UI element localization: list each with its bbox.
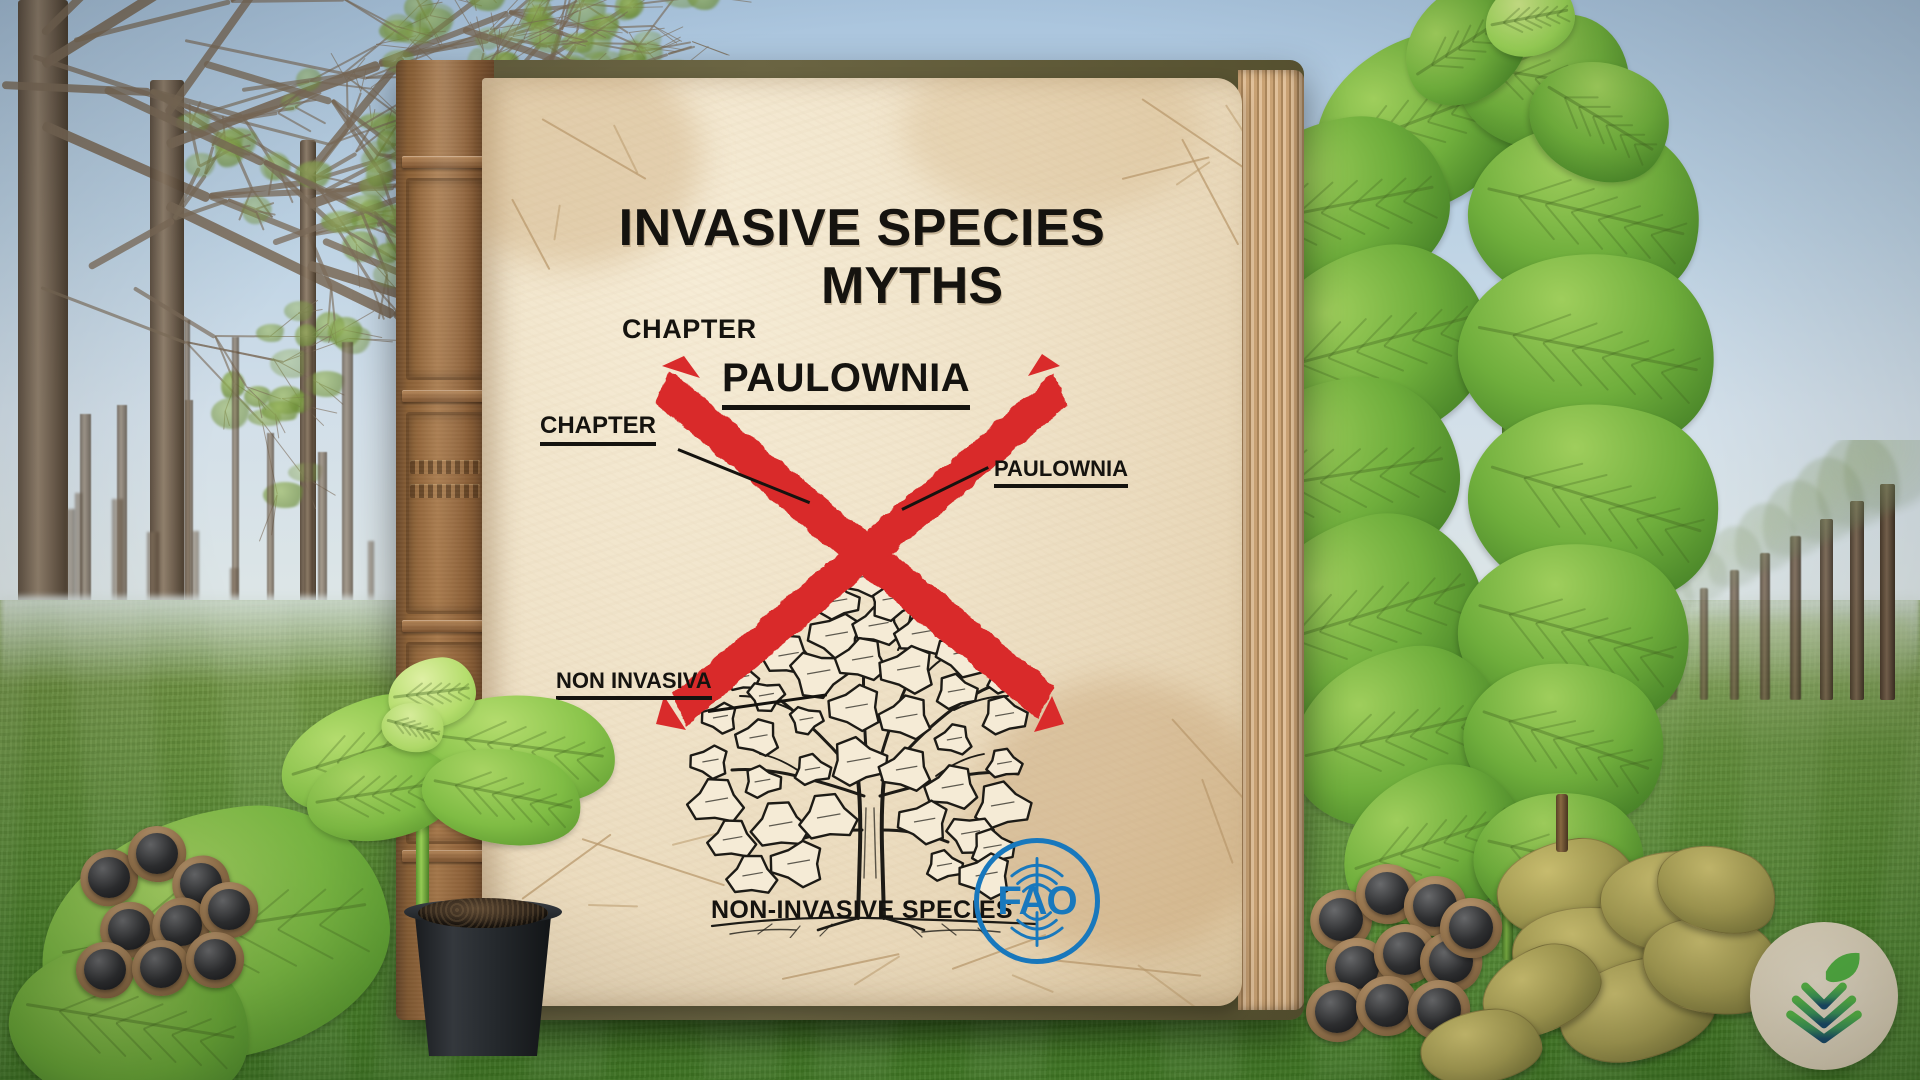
chapter-word: CHAPTER [622, 314, 757, 345]
callout-paulownia: PAULOWNIA [994, 456, 1128, 488]
page-title-line1: INVASIVE SPECIES [482, 198, 1242, 258]
spine-embossed-subtitle [410, 484, 480, 498]
callout-chapter: CHAPTER [540, 412, 656, 446]
callout-paulownia-label: PAULOWNIA [994, 456, 1128, 488]
spine-embossed-title [410, 460, 480, 474]
poster-canvas: INVASIVE SPECIES MYTHS CHAPTER PAULOWNIA [0, 0, 1920, 1080]
book-page-edges [1238, 70, 1304, 1010]
sprout-arrow-icon [1768, 940, 1880, 1052]
page-title-line2: MYTHS [632, 256, 1192, 316]
fao-logo: FAO [974, 838, 1100, 964]
paulownia-pods-right [1300, 820, 1770, 1080]
callout-chapter-label: CHAPTER [540, 412, 656, 446]
green-sprout-logo [1750, 922, 1898, 1070]
fao-logo-text: FAO [997, 881, 1076, 921]
